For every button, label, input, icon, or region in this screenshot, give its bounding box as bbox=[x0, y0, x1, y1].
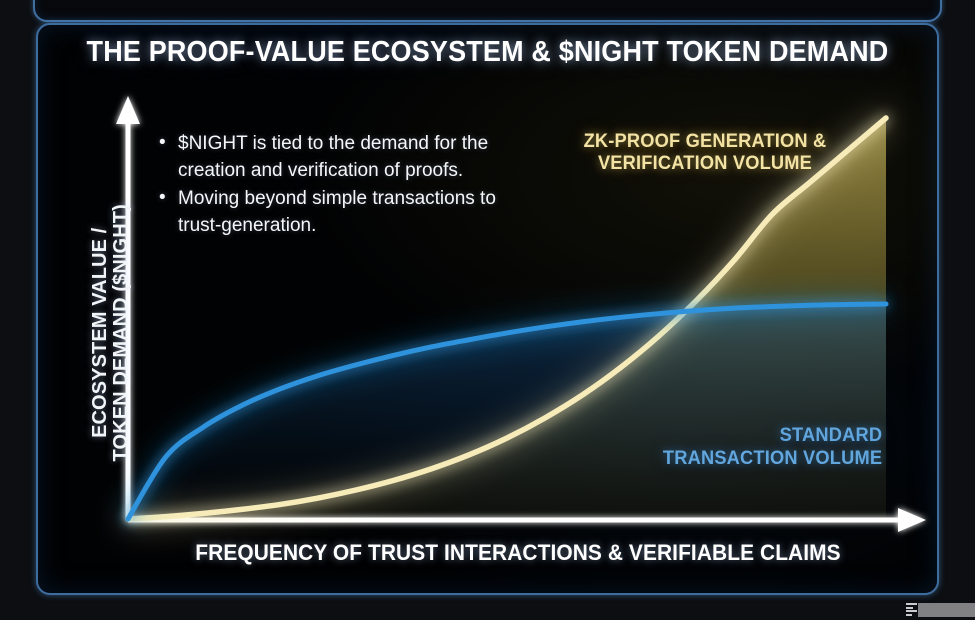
list-item: $NIGHT is tied to the demand for the cre… bbox=[178, 131, 527, 184]
page-title: THE PROOF-VALUE ECOSYSTEM & $NIGHT TOKEN… bbox=[34, 36, 941, 69]
y-axis-label: ECOSYSTEM VALUE / TOKEN DEMAND ($NIGHT) bbox=[90, 168, 132, 498]
gold-callout-line1: ZK-PROOF GENERATION & bbox=[584, 131, 827, 152]
screenshot-root: THE PROOF-VALUE ECOSYSTEM & $NIGHT TOKEN… bbox=[0, 0, 975, 620]
corner-widget-bar bbox=[918, 603, 975, 617]
blue-callout-line2: TRANSACTION VOLUME bbox=[663, 448, 882, 469]
gold-callout-line2: VERIFICATION VOLUME bbox=[598, 153, 812, 174]
x-axis-label: FREQUENCY OF TRUST INTERACTIONS & VERIFI… bbox=[138, 540, 898, 566]
panel-above-sliver bbox=[33, 0, 942, 22]
y-axis-label-line2: TOKEN DEMAND ($NIGHT) bbox=[111, 168, 132, 498]
blue-series-callout: STANDARD TRANSACTION VOLUME bbox=[604, 425, 882, 471]
list-item: Moving beyond simple transactions to tru… bbox=[178, 186, 527, 239]
menu-lines-icon bbox=[906, 603, 917, 616]
y-axis-label-line1: ECOSYSTEM VALUE / bbox=[89, 228, 111, 438]
bullet-list: $NIGHT is tied to the demand for the cre… bbox=[157, 131, 527, 241]
gold-series-callout: ZK-PROOF GENERATION & VERIFICATION VOLUM… bbox=[566, 131, 844, 176]
chart-card bbox=[36, 23, 939, 595]
blue-callout-line1: STANDARD bbox=[604, 425, 882, 448]
card-inner-glow bbox=[38, 25, 937, 593]
